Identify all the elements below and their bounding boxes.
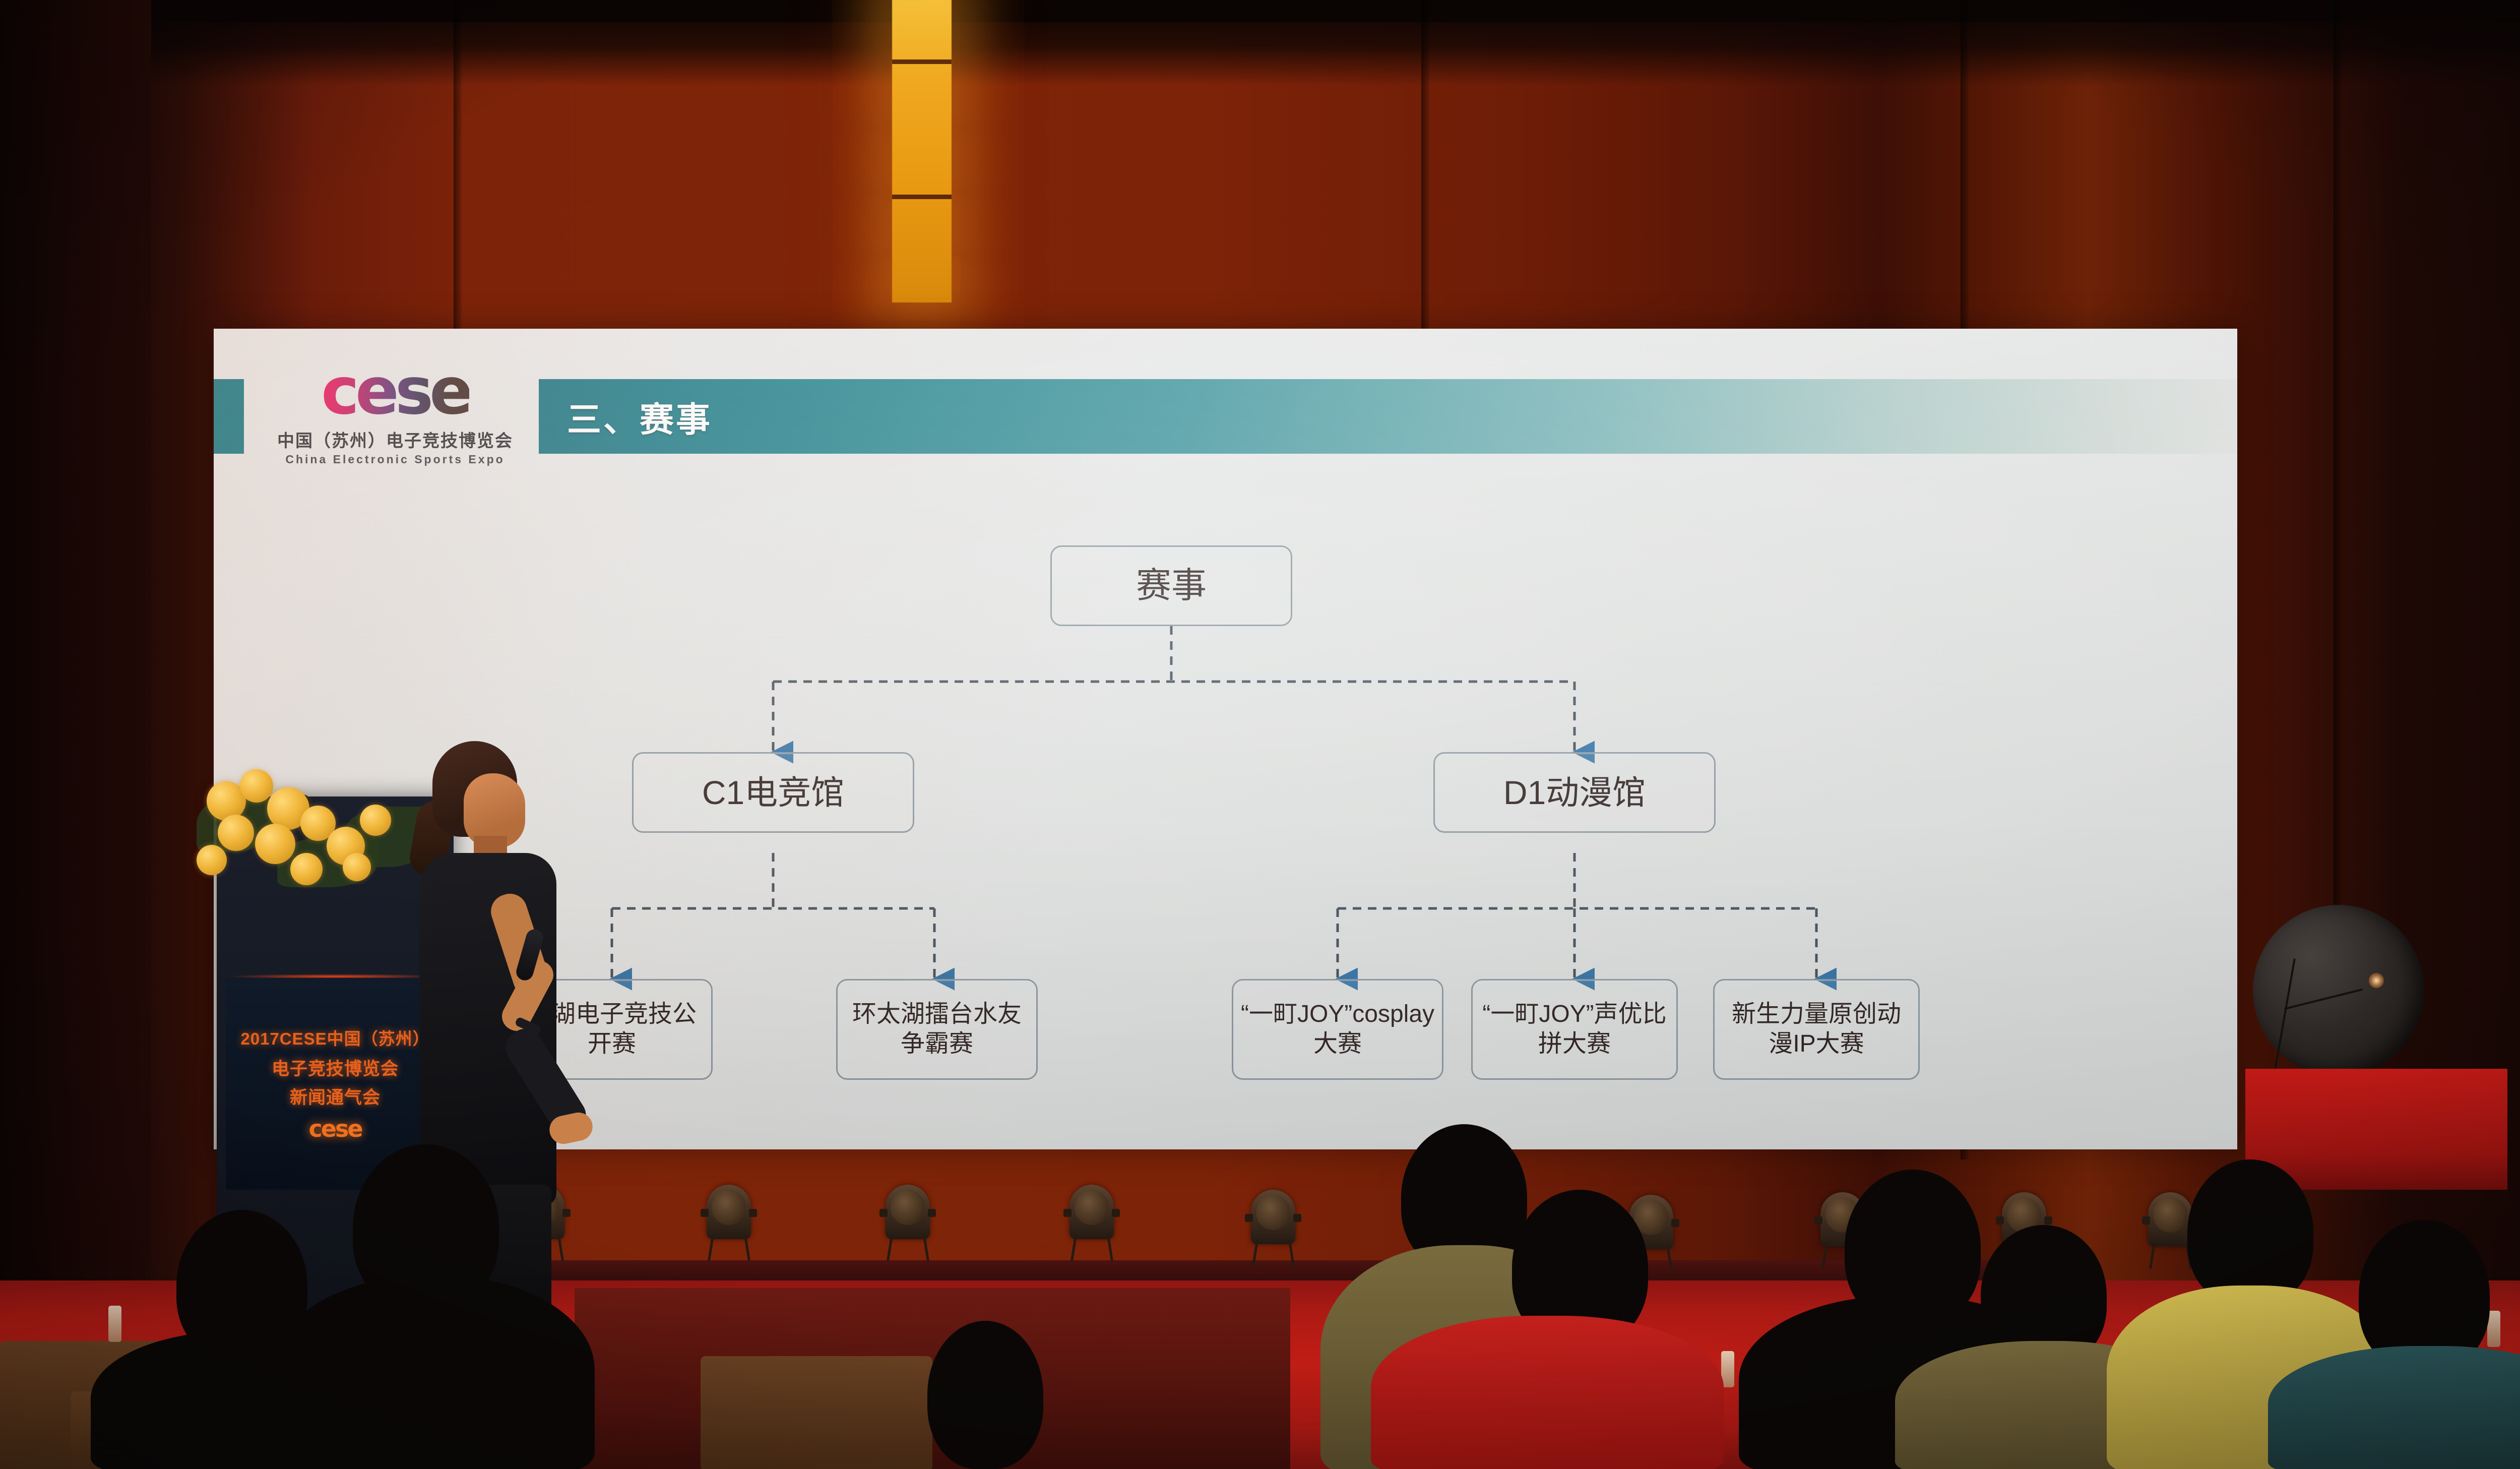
left-pillar — [0, 0, 151, 1469]
tree-leaf-4-label: 新生力量原创动漫IP大赛 — [1715, 1000, 1918, 1059]
tree-leaf-joy-voice-actor-contest[interactable]: “一町JOY”声优比拼大赛 — [1471, 979, 1678, 1080]
stage-light-par-2 — [701, 1185, 757, 1260]
tree-leaf-original-anime-ip-contest[interactable]: 新生力量原创动漫IP大赛 — [1713, 979, 1920, 1080]
ceiling-beam — [0, 0, 2520, 22]
tree-node-d1-label: D1动漫馆 — [1496, 772, 1653, 813]
tree-node-root[interactable]: 赛事 — [1050, 545, 1292, 626]
audience-body-red-shirt — [1371, 1316, 1724, 1469]
audience-head-7 — [2187, 1159, 2313, 1306]
audience-shoulders-2 — [272, 1275, 595, 1469]
column-light-segment-1 — [892, 59, 952, 64]
column-light-segment-2 — [892, 195, 952, 199]
tree-leaf-2-label: “一町JOY”cosplay大赛 — [1233, 1000, 1442, 1059]
tree-leaf-joy-cosplay-contest[interactable]: “一町JOY”cosplay大赛 — [1232, 979, 1443, 1080]
tree-node-d1-anime-hall[interactable]: D1动漫馆 — [1433, 752, 1716, 833]
audience-head-9 — [927, 1321, 1043, 1469]
amber-column-light — [892, 0, 952, 302]
tree-node-c1-esports-hall[interactable]: C1电竞馆 — [632, 752, 914, 833]
tree-leaf-taihu-arena-friendly[interactable]: 环太湖擂台水友争霸赛 — [836, 979, 1038, 1080]
tree-leaf-3-label: “一町JOY”声优比拼大赛 — [1473, 1000, 1676, 1059]
podium-banner-line-3: 新闻通气会 — [290, 1083, 381, 1109]
stage-light-par-4 — [1063, 1185, 1120, 1260]
stage-light-par-5 — [1245, 1190, 1301, 1265]
tree-leaf-1-label: 环太湖擂台水友争霸赛 — [838, 1000, 1036, 1059]
audience-chair-3 — [701, 1356, 932, 1469]
tree-node-root-label: 赛事 — [1129, 564, 1214, 607]
dish-light-highlight — [2369, 973, 2384, 988]
conference-stage-scene: 三、赛事 cese 中国（苏州）电子竞技博览会 China Electronic… — [0, 0, 2520, 1469]
water-bottle-1 — [108, 1306, 121, 1342]
tree-node-c1-label: C1电竞馆 — [695, 772, 851, 813]
podium-banner-line-2: 电子竞技博览会 — [272, 1055, 399, 1080]
podium-banner-cese-logo: cese — [308, 1115, 361, 1142]
stage-light-par-3 — [879, 1185, 936, 1260]
